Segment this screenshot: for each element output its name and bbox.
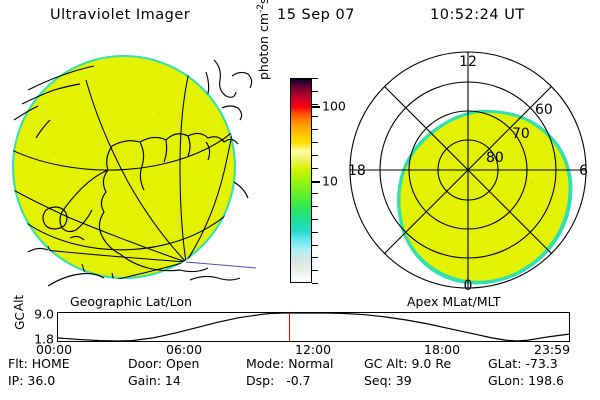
status-row-2: IP: 36.0 Gain: 14 Dsp: -0.7 Seq: 39 GLon… xyxy=(0,375,600,393)
status-flt: Flt: HOME xyxy=(8,358,70,371)
status-door: Door: Open xyxy=(128,358,199,371)
observation-date: 15 Sep 07 xyxy=(277,8,355,23)
colorbar-gradient xyxy=(291,79,311,282)
colorbar-minor-tick xyxy=(312,155,318,156)
colorbar-minor-tick xyxy=(312,78,318,79)
mlt-label-12: 12 xyxy=(459,54,477,70)
status-gain: Gain: 14 xyxy=(128,375,181,388)
strip-curve-svg xyxy=(57,312,570,342)
xtick-1800: 18:00 xyxy=(424,342,460,357)
colorbar-minor-tick xyxy=(312,270,318,271)
colorbar-minor-tick xyxy=(312,116,318,117)
mlt-plot-title: Apex MLat/MLT xyxy=(407,296,501,309)
status-glon: GLon: 198.6 xyxy=(488,375,564,388)
cbar-title-mid: s xyxy=(256,0,271,4)
mlat-label-70: 70 xyxy=(512,126,530,142)
colorbar-minor-tick xyxy=(312,193,318,194)
mlt-plot-svg: 12 18 6 0 60 70 80 xyxy=(344,42,592,294)
geographic-plot-panel xyxy=(8,42,256,292)
mlt-label-18: 18 xyxy=(348,163,366,179)
colorbar-ticks xyxy=(312,78,320,283)
ytick-9-0: 9.0 xyxy=(34,307,54,322)
colorbar-minor-tick xyxy=(312,245,318,246)
colorbar-minor-tick xyxy=(312,168,318,169)
colorbar-label-10: 10 xyxy=(322,173,338,188)
geographic-plot-svg xyxy=(8,42,256,292)
colorbar-major-tick xyxy=(312,106,320,108)
mlt-label-6: 6 xyxy=(579,163,588,179)
cbar-title-exp1: -2 xyxy=(256,4,266,13)
status-glat: GLat: -73.3 xyxy=(488,358,558,371)
status-ip: IP: 36.0 xyxy=(8,375,55,388)
observation-time: 10:52:24 UT xyxy=(430,8,525,23)
xtick-1200: 12:00 xyxy=(295,342,331,357)
cbar-title-main: photon cm xyxy=(256,13,271,80)
xtick-0600: 06:00 xyxy=(166,342,202,357)
current-time-marker xyxy=(289,313,290,341)
gc-altitude-trace xyxy=(57,313,570,341)
colorbar-major-tick xyxy=(312,181,320,183)
colorbar-minor-tick xyxy=(312,257,318,258)
xtick-0000: 00:00 xyxy=(36,342,72,357)
gc-altitude-strip-chart: Geographic Lat/Lon Apex MLat/MLT GC Alt … xyxy=(0,296,600,354)
status-bar: Flt: HOME Door: Open Mode: Normal GC Alt… xyxy=(0,358,600,398)
colorbar-gradient-box xyxy=(290,78,312,283)
colorbar-label-100: 100 xyxy=(322,99,346,114)
status-seq: Seq: 39 xyxy=(364,375,412,388)
colorbar: photon cm-2s-1 100 10 xyxy=(262,60,342,295)
instrument-title: Ultraviolet Imager xyxy=(50,8,190,23)
colorbar-minor-tick xyxy=(312,142,318,143)
dayglow-disk xyxy=(14,57,234,277)
colorbar-minor-tick xyxy=(312,219,318,220)
status-mode: Mode: Normal xyxy=(246,358,333,371)
colorbar-minor-tick xyxy=(312,206,318,207)
status-dsp: Dsp: -0.7 xyxy=(246,375,311,388)
colorbar-minor-tick xyxy=(312,129,318,130)
colorbar-axis-title: photon cm-2s-1 xyxy=(256,0,271,80)
mlt-plot-panel: 12 18 6 0 60 70 80 xyxy=(344,42,592,294)
colorbar-minor-tick xyxy=(312,91,318,92)
colorbar-minor-tick xyxy=(312,283,318,284)
colorbar-minor-tick xyxy=(312,104,318,105)
status-gc-alt: GC Alt: 9.0 Re xyxy=(364,358,451,371)
geographic-plot-title: Geographic Lat/Lon xyxy=(70,296,192,309)
header-bar: Ultraviolet Imager 15 Sep 07 10:52:24 UT xyxy=(0,8,600,30)
mlat-label-60: 60 xyxy=(535,102,553,118)
xtick-2359: 23:59 xyxy=(534,342,570,357)
terminator-line xyxy=(186,262,256,268)
colorbar-minor-tick xyxy=(312,232,318,233)
mlt-spokes xyxy=(350,52,586,288)
mlat-label-80: 80 xyxy=(486,150,504,166)
mlt-label-0: 0 xyxy=(464,278,473,294)
uv-imager-window: Ultraviolet Imager 15 Sep 07 10:52:24 UT xyxy=(0,0,600,400)
